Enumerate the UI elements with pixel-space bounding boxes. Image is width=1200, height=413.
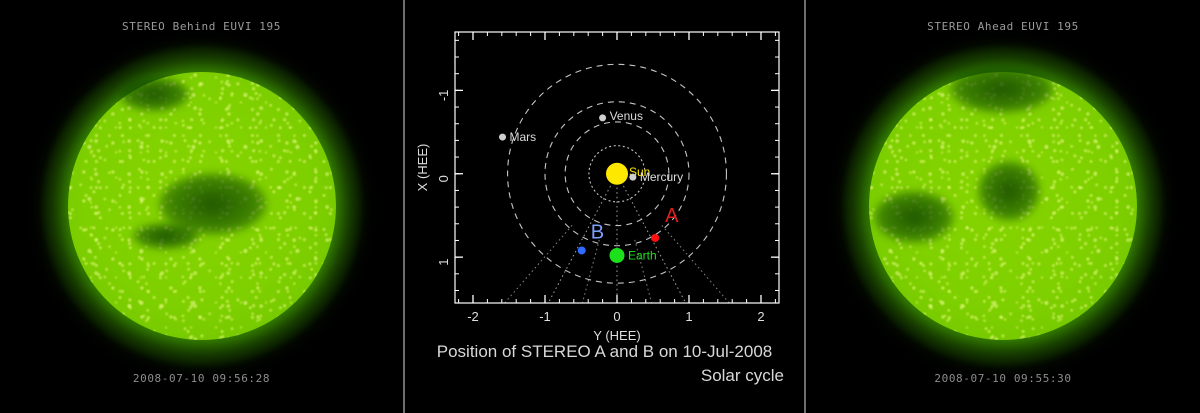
ahead-dark-region-center [978, 161, 1040, 221]
spacecraft-label: A [665, 205, 679, 227]
body-label: Earth [628, 248, 657, 262]
behind-coronal-hole-north [119, 77, 189, 111]
panel-orbit-plot: -2-1012-101Y (HEE)X (HEE)SunMercuryVenus… [405, 0, 804, 413]
ahead-sun-image [838, 41, 1168, 371]
ahead-coronal-hole-north [950, 65, 1054, 113]
behind-image-title: STEREO Behind EUVI 195 [0, 20, 403, 33]
body-dot-icon [629, 174, 636, 181]
body-label: Mars [510, 130, 537, 144]
xtick-label: 0 [613, 309, 620, 324]
body-dot-icon [599, 114, 606, 121]
body-dot-icon [499, 134, 506, 141]
ahead-active-region-dark [874, 191, 954, 243]
ytick-label: 1 [436, 259, 451, 266]
orbit-plot-title: Position of STEREO A and B on 10-Jul-200… [405, 342, 804, 362]
y-axis-label: X (HEE) [415, 144, 430, 192]
ytick-label: -1 [436, 90, 451, 102]
xtick-label: 1 [685, 309, 692, 324]
body-label: Mercury [640, 170, 683, 184]
behind-dark-region-left [133, 223, 199, 249]
sun-icon [606, 163, 628, 185]
xtick-label: -1 [539, 309, 551, 324]
body-dot-icon [610, 248, 625, 263]
stereo-beacon-composite: STEREO Behind EUVI 195 2008-07-10 09:56:… [0, 0, 1200, 413]
body-earth[interactable]: Earth [610, 248, 657, 263]
spacecraft-label: B [591, 221, 604, 243]
spacecraft-dot-icon [651, 234, 659, 242]
ytick-label: 0 [436, 175, 451, 182]
spacecraft-dot-icon [578, 246, 586, 254]
behind-sun-image [37, 41, 367, 371]
panel-stereo-ahead: STEREO Ahead EUVI 195 2008-07-10 09:55:3… [806, 0, 1200, 413]
ahead-image-title: STEREO Ahead EUVI 195 [806, 20, 1200, 33]
panel-stereo-behind: STEREO Behind EUVI 195 2008-07-10 09:56:… [0, 0, 403, 413]
x-axis-label: Y (HEE) [593, 328, 640, 343]
behind-timestamp: 2008-07-10 09:56:28 [0, 372, 403, 385]
body-label: Venus [610, 109, 643, 123]
orbit-plot-subtitle: Solar cycle [405, 366, 784, 386]
ahead-timestamp: 2008-07-10 09:55:30 [806, 372, 1200, 385]
xtick-label: -2 [467, 309, 479, 324]
xtick-label: 2 [757, 309, 764, 324]
